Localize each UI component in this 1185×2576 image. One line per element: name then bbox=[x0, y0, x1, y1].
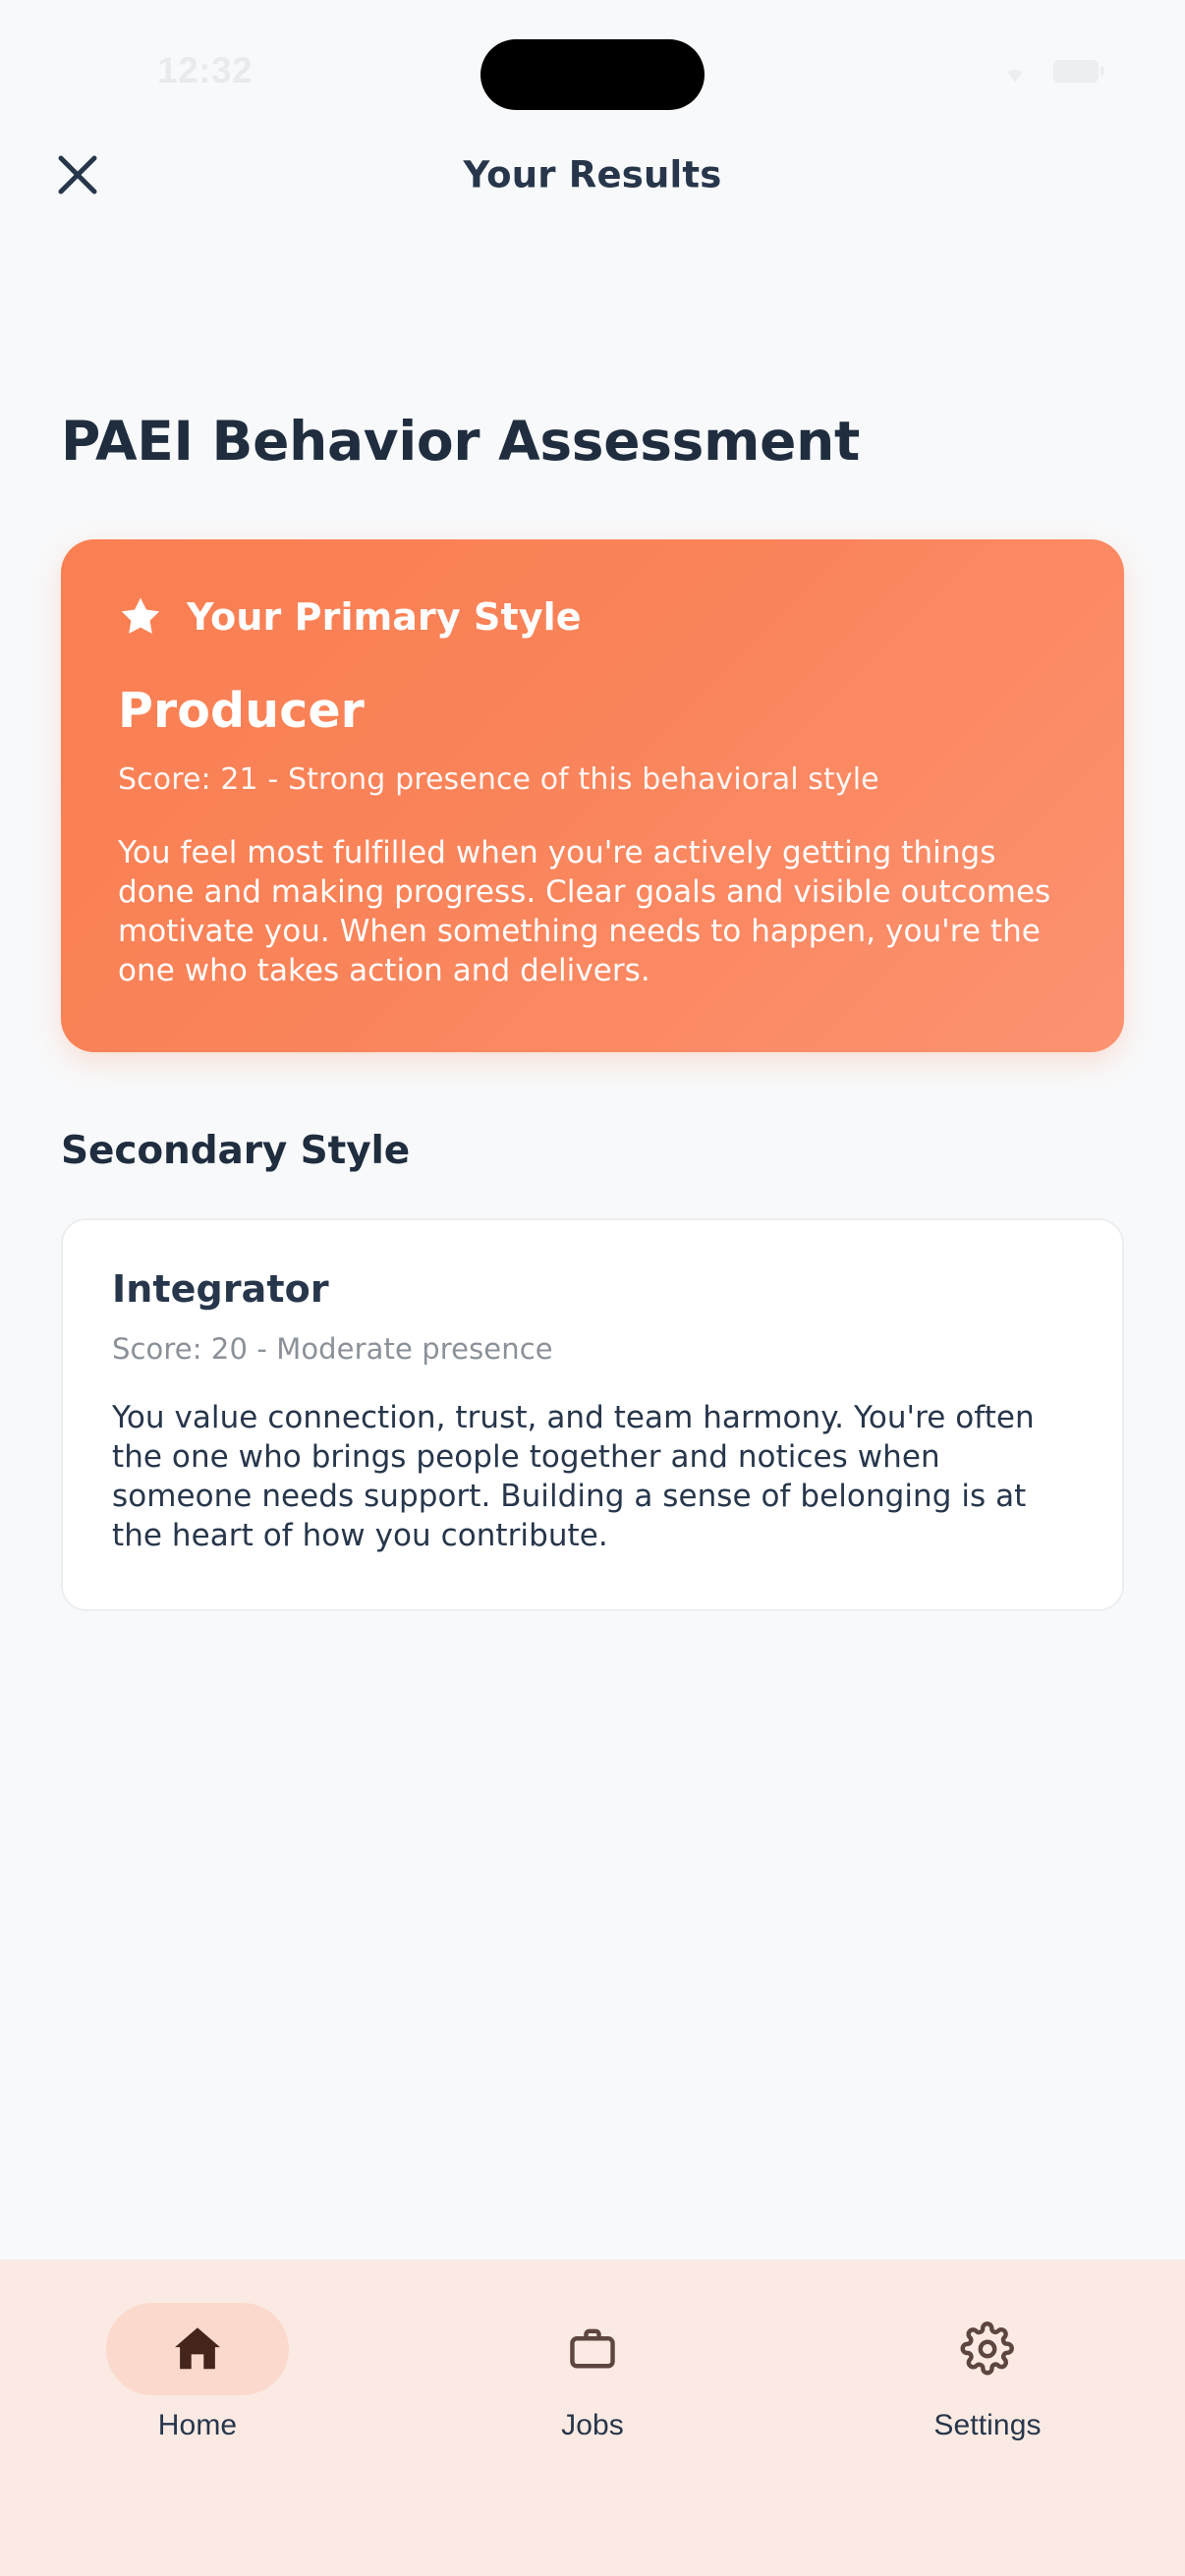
nav-item-settings[interactable]: Settings bbox=[790, 2303, 1185, 2442]
status-bar: 12:32 bbox=[0, 0, 1185, 116]
nav-item-jobs[interactable]: Jobs bbox=[395, 2303, 790, 2442]
secondary-style-card: Integrator Score: 20 - Moderate presence… bbox=[61, 1218, 1124, 1611]
briefcase-icon bbox=[565, 2322, 620, 2377]
primary-style-card-header: Your Primary Style bbox=[118, 594, 1067, 640]
nav-item-home[interactable]: Home bbox=[0, 2303, 395, 2442]
secondary-style-description: You value connection, trust, and team ha… bbox=[112, 1399, 1073, 1556]
page-title: PAEI Behavior Assessment bbox=[61, 411, 1124, 473]
primary-style-kicker: Your Primary Style bbox=[187, 595, 582, 639]
nav-label-home: Home bbox=[158, 2409, 237, 2442]
primary-style-name: Producer bbox=[118, 683, 1067, 739]
star-icon bbox=[118, 594, 163, 640]
home-icon-wrapper bbox=[106, 2303, 289, 2395]
secondary-style-heading: Secondary Style bbox=[61, 1129, 1124, 1173]
battery-icon bbox=[1053, 60, 1099, 83]
dynamic-island bbox=[480, 39, 705, 110]
page-header-title: Your Results bbox=[0, 154, 1185, 196]
bottom-navigation-bar: Home Jobs Settings bbox=[0, 2260, 1185, 2576]
primary-style-card: Your Primary Style Producer Score: 21 - … bbox=[61, 539, 1124, 1052]
nav-label-jobs: Jobs bbox=[561, 2409, 624, 2442]
status-bar-time: 12:32 bbox=[157, 50, 253, 91]
gear-icon-wrapper bbox=[896, 2303, 1079, 2395]
nav-label-settings: Settings bbox=[933, 2409, 1041, 2442]
briefcase-icon-wrapper bbox=[501, 2303, 684, 2395]
gear-icon bbox=[960, 2322, 1015, 2377]
status-bar-indicators bbox=[998, 58, 1099, 84]
wifi-icon bbox=[998, 58, 1032, 84]
home-icon bbox=[169, 2321, 226, 2378]
app-header: Your Results bbox=[0, 116, 1185, 234]
secondary-style-score: Score: 20 - Moderate presence bbox=[112, 1332, 1073, 1366]
primary-style-score: Score: 21 - Strong presence of this beha… bbox=[118, 762, 1067, 797]
results-scroll-area[interactable]: PAEI Behavior Assessment Your Primary St… bbox=[0, 234, 1185, 2260]
secondary-style-name: Integrator bbox=[112, 1267, 1073, 1311]
primary-style-description: You feel most fulfilled when you're acti… bbox=[118, 834, 1067, 991]
